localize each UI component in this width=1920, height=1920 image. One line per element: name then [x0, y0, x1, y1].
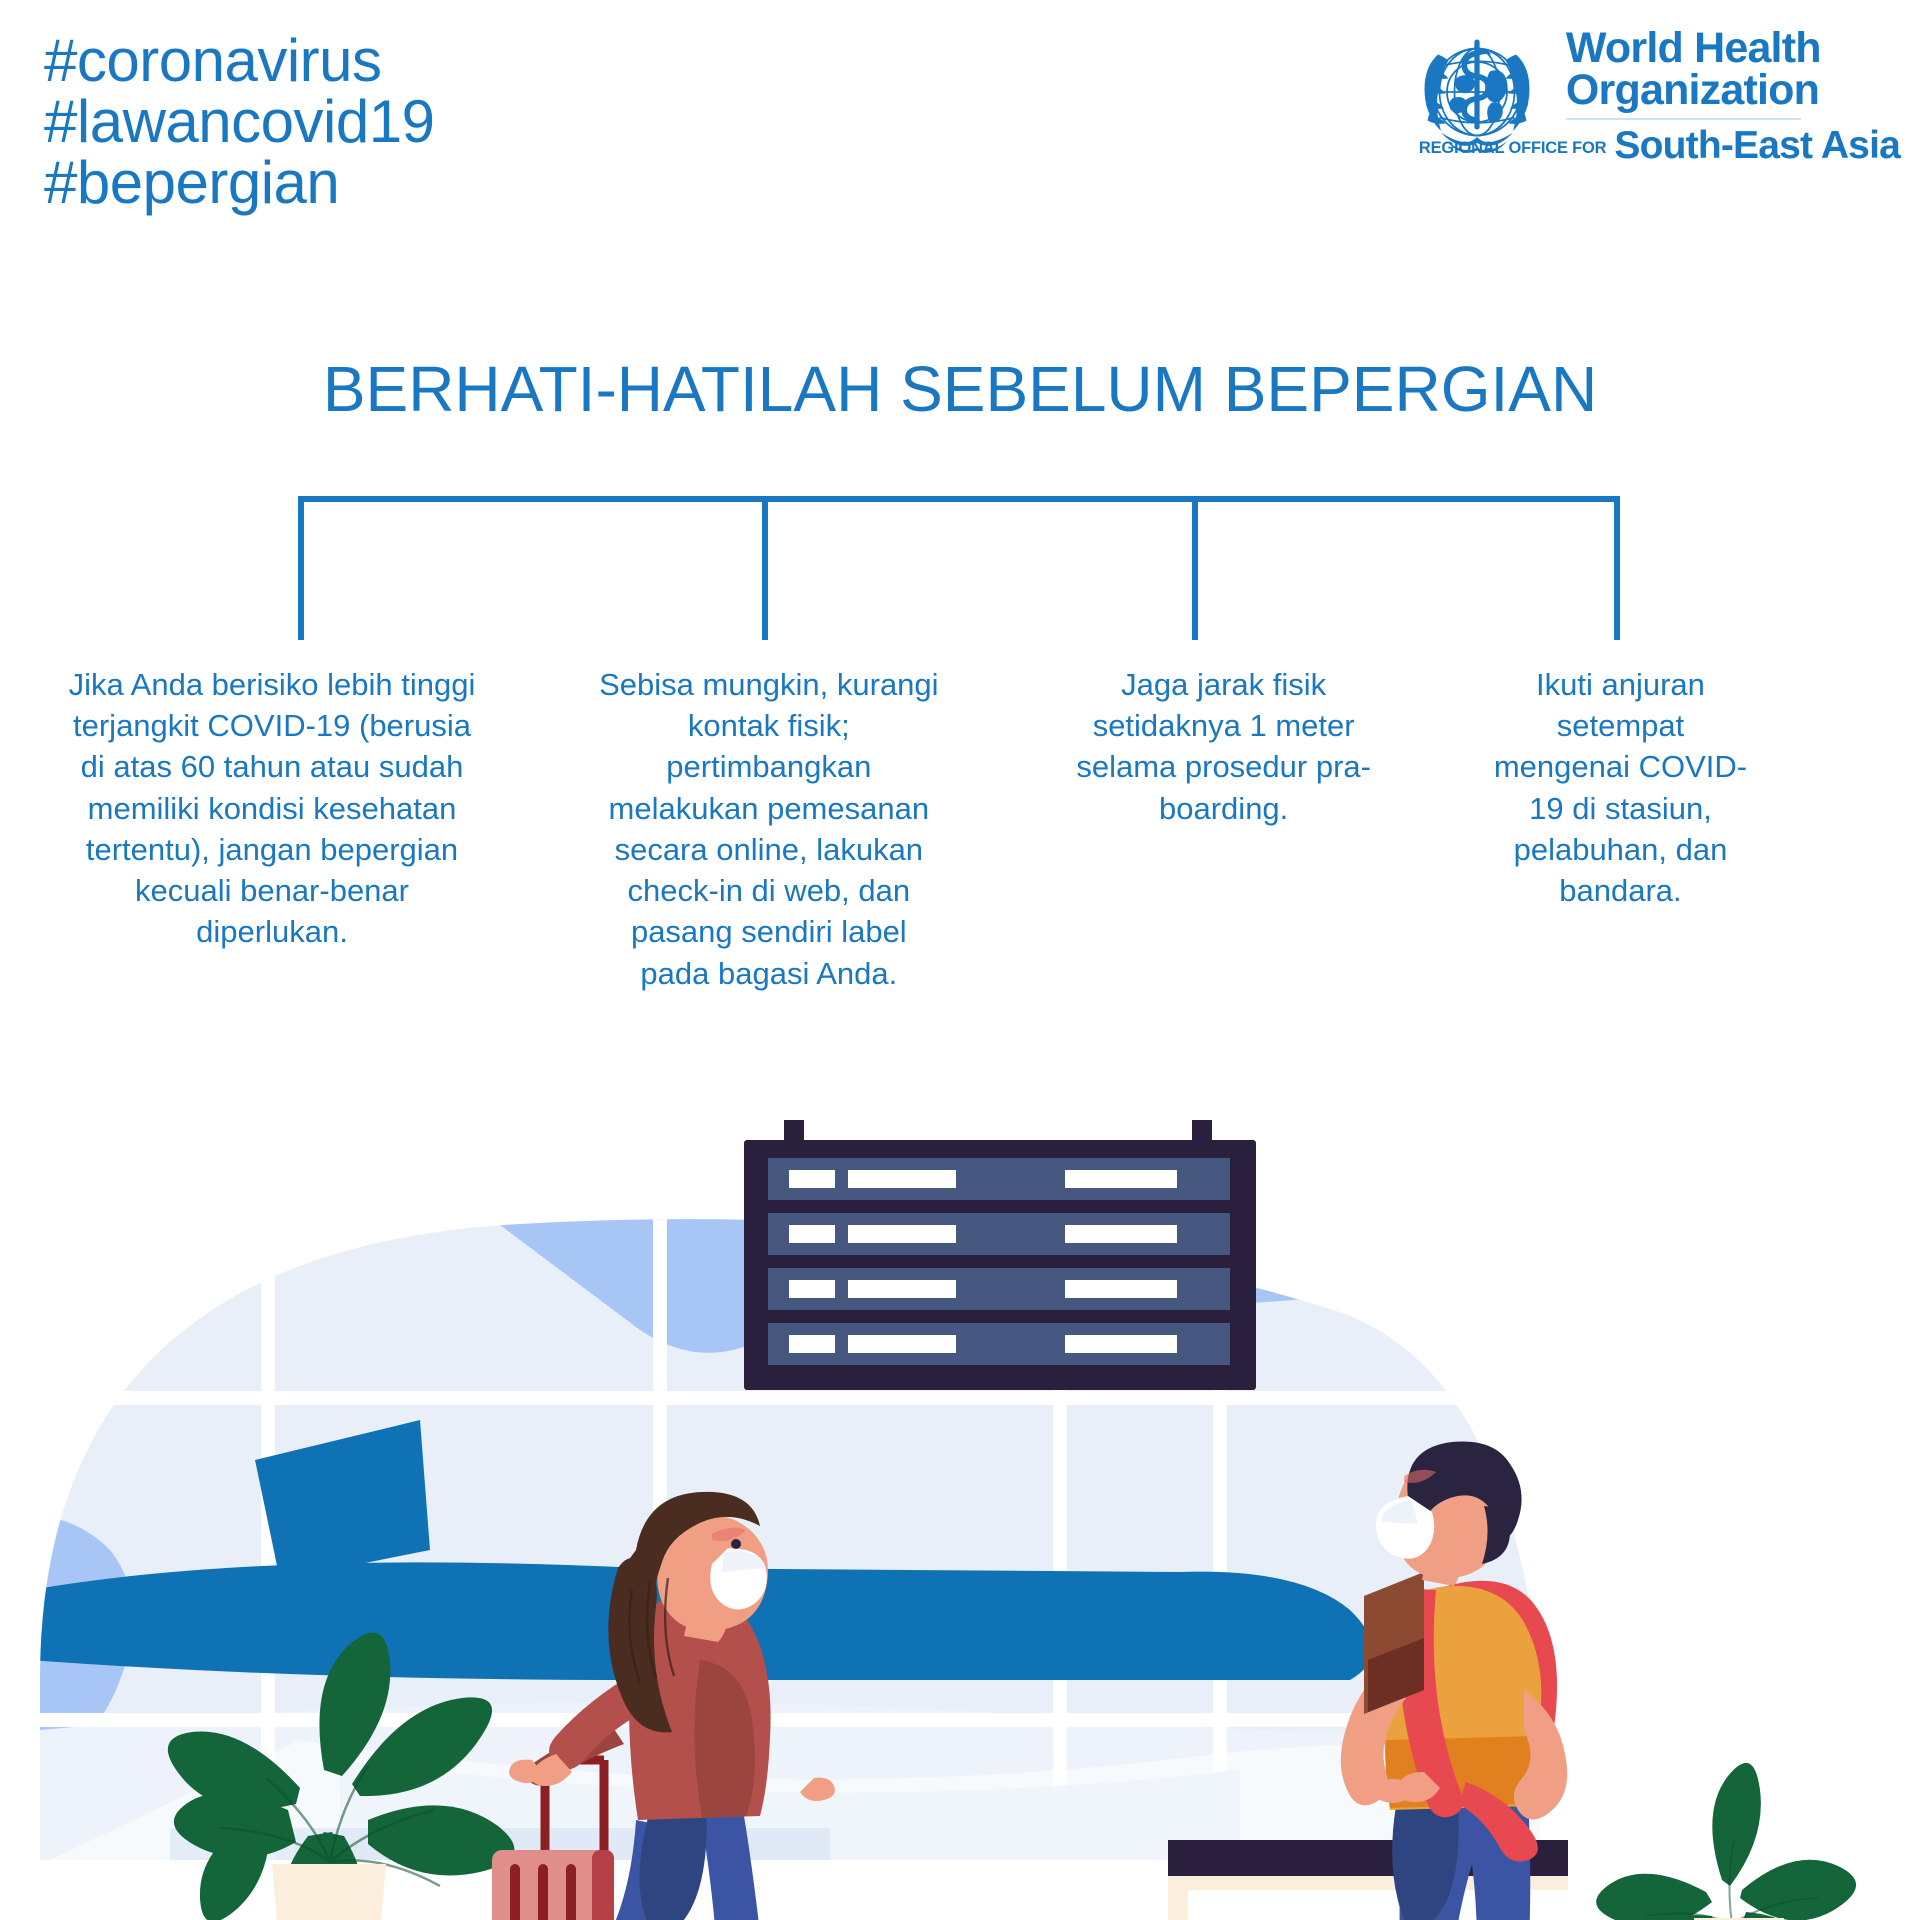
advice-column-reduce-contact: Sebisa mungkin, kurangi kontak fisik; pe… — [596, 664, 941, 994]
who-divider — [1566, 118, 1801, 120]
who-logo: World Health Organization REGIONAL OFFIC… — [1402, 22, 1900, 174]
who-regional-office-label: REGIONAL OFFICE FOR — [1419, 139, 1606, 165]
who-region-name: South-East Asia — [1614, 126, 1900, 165]
who-wordmark: World Health Organization REGIONAL OFFIC… — [1566, 22, 1900, 165]
page-title: BERHATI-HATILAH SEBELUM BEPERGIAN — [0, 352, 1920, 426]
who-region-row: REGIONAL OFFICE FOR South-East Asia — [1566, 126, 1900, 165]
bracket-connector — [0, 480, 1920, 640]
advice-column-risk-group: Jika Anda berisiko lebih tinggi terjangk… — [62, 664, 482, 953]
advice-column-local-guidance: Ikuti anjuran setempat mengenai COVID-19… — [1488, 664, 1753, 911]
departure-board — [744, 1120, 1256, 1390]
advice-column-physical-distance: Jaga jarak fisik setidaknya 1 meter sela… — [1074, 664, 1374, 829]
potted-plant-right — [1596, 1763, 1856, 1920]
who-name-line-1: World Health — [1566, 28, 1900, 70]
hashtags-block: #coronavirus #lawancovid19 #bepergian — [44, 30, 434, 214]
airport-terminal-illustration — [0, 1120, 1920, 1920]
advice-columns: Jika Anda berisiko lebih tinggi terjangk… — [62, 664, 1858, 994]
who-name-line-2: Organization — [1566, 70, 1900, 112]
infographic-canvas: #coronavirus #lawancovid19 #bepergian — [0, 0, 1920, 1920]
